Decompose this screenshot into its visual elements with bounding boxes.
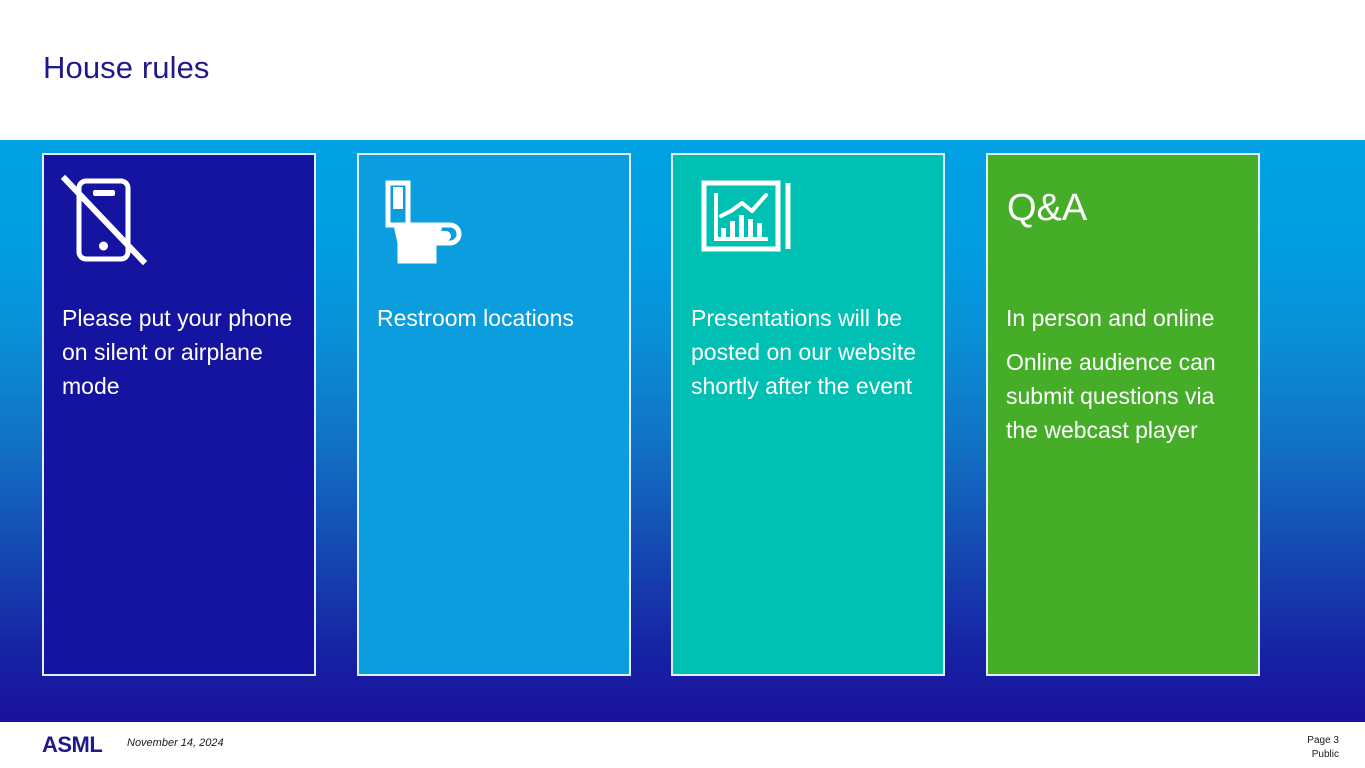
asml-logo: ASML [42,732,102,758]
title-area: House rules [0,0,1365,140]
card-qa[interactable]: Q&A In person and online Online audience… [986,153,1260,676]
footer: ASML November 14, 2024 Page 3 Public [0,722,1365,768]
phone-silent-icon [61,173,171,268]
card-qa-heading: Q&A [1007,188,1087,230]
card-phone-silent-body: Please put your phone on silent or airpl… [62,301,298,403]
card-restroom-body: Restroom locations [377,301,613,335]
card-phone-silent[interactable]: Please put your phone on silent or airpl… [42,153,316,676]
card-paragraph: In person and online [1006,301,1242,335]
card-restroom[interactable]: Restroom locations [357,153,631,676]
card-paragraph: Presentations will be posted on our webs… [691,301,927,403]
toilet-icon [376,173,486,268]
footer-date: November 14, 2024 [127,737,224,749]
gradient-background: Please put your phone on silent or airpl… [0,140,1365,722]
slide: House rules Please put your phone on sil… [0,0,1365,768]
footer-meta: Page 3 Public [1307,734,1339,762]
card-paragraph: Please put your phone on silent or airpl… [62,301,298,403]
card-presentations[interactable]: Presentations will be posted on our webs… [671,153,945,676]
card-presentations-body: Presentations will be posted on our webs… [691,301,927,403]
page-title: House rules [43,50,210,86]
card-qa-body: In person and online Online audience can… [1006,301,1242,447]
card-row: Please put your phone on silent or airpl… [0,140,1365,722]
card-paragraph: Online audience can submit questions via… [1006,345,1242,447]
card-paragraph: Restroom locations [377,301,613,335]
page-number: Page 3 [1307,734,1339,748]
classification-label: Public [1307,748,1339,762]
presentation-chart-icon [690,173,800,268]
